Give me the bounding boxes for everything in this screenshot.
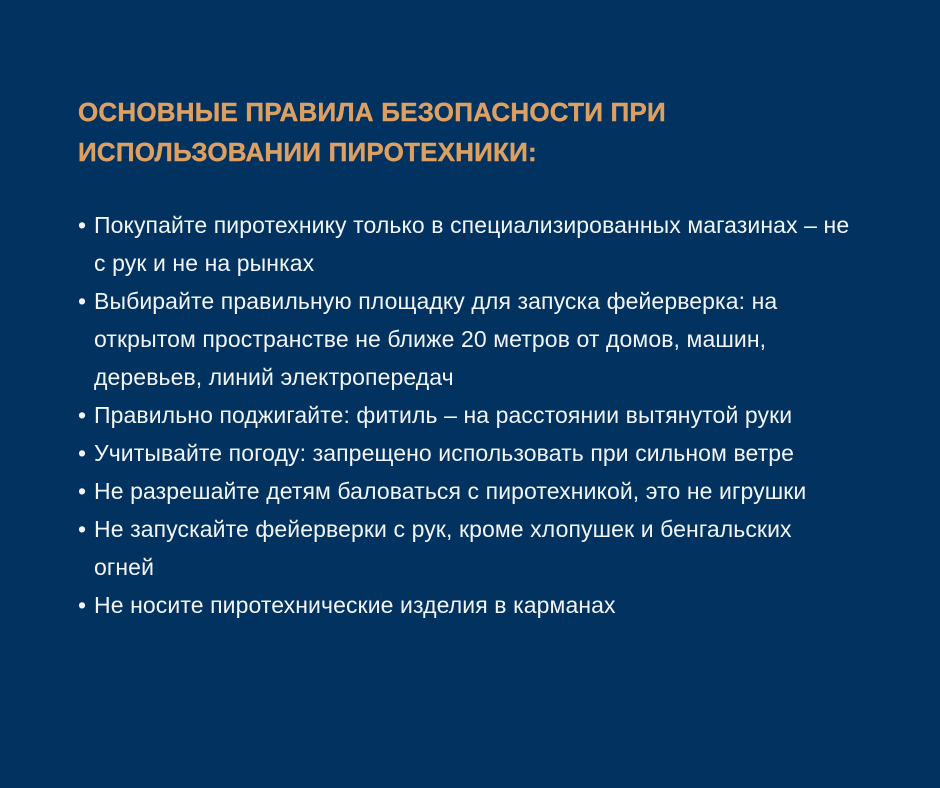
list-item: • Не запускайте фейерверки с рук, кроме … xyxy=(78,510,858,586)
bullet-icon: • xyxy=(78,282,86,320)
list-item-label: Не разрешайте детям баловаться с пиротех… xyxy=(94,478,806,504)
safety-rules-poster: ОСНОВНЫЕ ПРАВИЛА БЕЗОПАСНОСТИ ПРИ ИСПОЛЬ… xyxy=(0,0,940,788)
safety-rules-list: • Покупайте пиротехнику только в специал… xyxy=(78,206,858,624)
list-item-label: Не носите пиротехнические изделия в карм… xyxy=(94,592,616,618)
list-item-label: Покупайте пиротехнику только в специализ… xyxy=(94,212,849,276)
list-item-label: Не запускайте фейерверки с рук, кроме хл… xyxy=(94,516,792,580)
bullet-icon: • xyxy=(78,586,86,624)
list-item-label: Учитывайте погоду: запрещено использоват… xyxy=(94,440,794,466)
bullet-icon: • xyxy=(78,396,86,434)
bullet-icon: • xyxy=(78,434,86,472)
list-item: • Выбирайте правильную площадку для запу… xyxy=(78,282,858,396)
list-item-label: Правильно поджигайте: фитиль – на рассто… xyxy=(94,402,792,428)
bullet-icon: • xyxy=(78,472,86,510)
bullet-icon: • xyxy=(78,510,86,548)
list-item-label: Выбирайте правильную площадку для запуск… xyxy=(94,288,777,390)
list-item: • Покупайте пиротехнику только в специал… xyxy=(78,206,858,282)
page-title: ОСНОВНЫЕ ПРАВИЛА БЕЗОПАСНОСТИ ПРИ ИСПОЛЬ… xyxy=(78,92,718,172)
list-item: • Не носите пиротехнические изделия в ка… xyxy=(78,586,858,624)
poster-content: ОСНОВНЫЕ ПРАВИЛА БЕЗОПАСНОСТИ ПРИ ИСПОЛЬ… xyxy=(78,92,858,624)
list-item: • Учитывайте погоду: запрещено использов… xyxy=(78,434,858,472)
bullet-icon: • xyxy=(78,206,86,244)
list-item: • Не разрешайте детям баловаться с пирот… xyxy=(78,472,858,510)
list-item: • Правильно поджигайте: фитиль – на расс… xyxy=(78,396,858,434)
